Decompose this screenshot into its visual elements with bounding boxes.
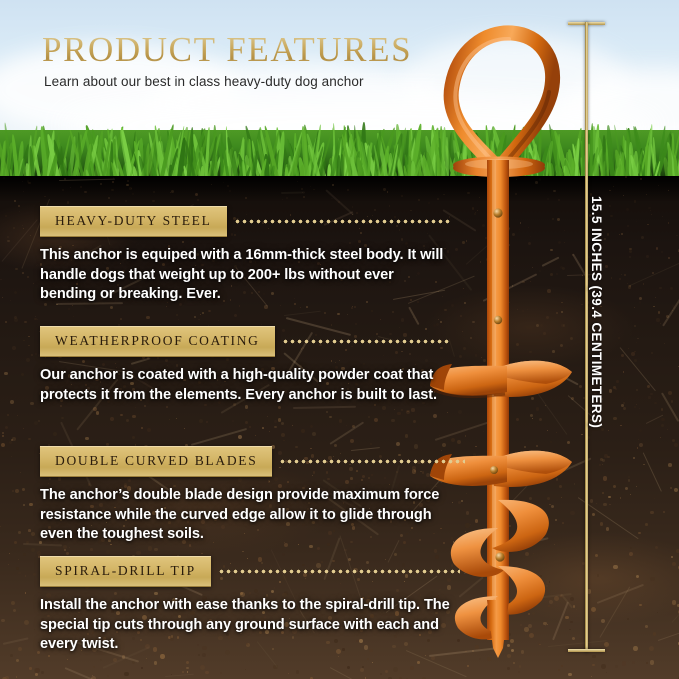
product-features-infographic: PRODUCT FEATURES Learn about our best in… bbox=[0, 0, 679, 679]
dotted-rule bbox=[234, 219, 450, 224]
measure-cap-bottom bbox=[568, 649, 605, 652]
feature-label: DOUBLE CURVED BLADES bbox=[40, 446, 272, 477]
feature-label: HEAVY-DUTY STEEL bbox=[40, 206, 227, 237]
feature-body: Install the anchor with ease thanks to t… bbox=[40, 596, 460, 655]
feature-label: SPIRAL-DRILL TIP bbox=[40, 556, 211, 587]
feature-label-row: WEATHERPROOF COATING bbox=[40, 326, 450, 357]
feature-label-row: SPIRAL-DRILL TIP bbox=[40, 556, 460, 587]
feature-label-row: HEAVY-DUTY STEEL bbox=[40, 206, 450, 237]
measurement-label: 15.5 INCHES (39.4 CENTIMETERS) bbox=[589, 196, 604, 428]
feature-body: Our anchor is coated with a high-quality… bbox=[40, 366, 450, 405]
feature-label: WEATHERPROOF COATING bbox=[40, 326, 275, 357]
page-subtitle: Learn about our best in class heavy-duty… bbox=[44, 74, 364, 89]
dotted-rule bbox=[218, 569, 460, 574]
feature-spiral-drill-tip: SPIRAL-DRILL TIP Install the anchor with… bbox=[40, 556, 460, 655]
feature-heavy-duty-steel: HEAVY-DUTY STEEL This anchor is equiped … bbox=[40, 206, 450, 305]
feature-weatherproof-coating: WEATHERPROOF COATING Our anchor is coate… bbox=[40, 326, 450, 405]
feature-double-curved-blades: DOUBLE CURVED BLADES The anchor’s double… bbox=[40, 446, 465, 545]
feature-body: The anchor’s double blade design provide… bbox=[40, 486, 465, 545]
page-title: PRODUCT FEATURES bbox=[42, 30, 412, 70]
feature-label-row: DOUBLE CURVED BLADES bbox=[40, 446, 465, 477]
dotted-rule bbox=[279, 459, 465, 464]
dotted-rule bbox=[282, 339, 450, 344]
grass-band bbox=[0, 108, 679, 186]
feature-body: This anchor is equiped with a 16mm-thick… bbox=[40, 246, 450, 305]
measure-line bbox=[585, 22, 588, 652]
